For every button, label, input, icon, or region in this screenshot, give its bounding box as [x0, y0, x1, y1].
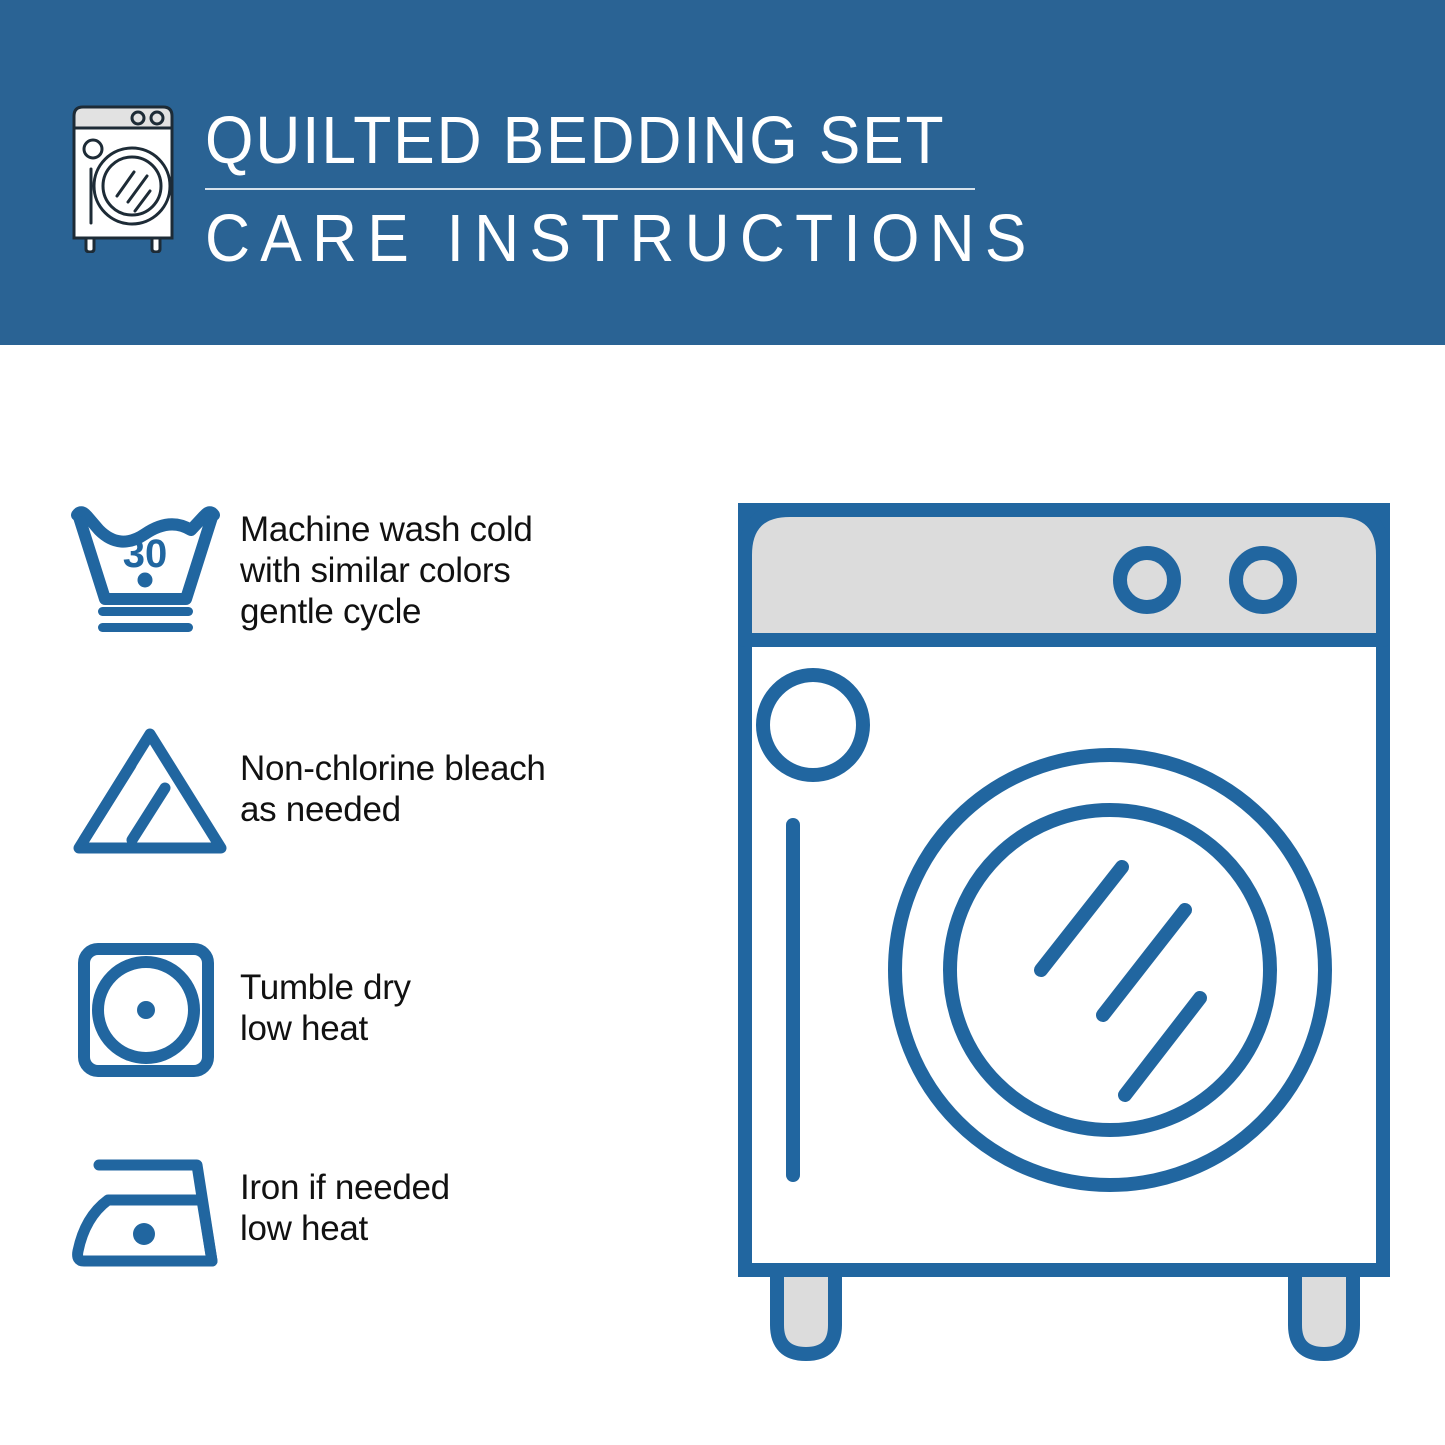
wash-temperature-value: 30: [123, 532, 168, 576]
care-label-iron: Iron if needed low heat: [240, 1145, 700, 1249]
care-label-line: Tumble dry: [240, 967, 700, 1008]
header-text-block: QUILTED BEDDING SET CARE INSTRUCTIONS: [205, 103, 1005, 277]
washing-machine-illustration: [715, 470, 1415, 1390]
care-label-tumble-dry: Tumble dry low heat: [240, 935, 700, 1049]
care-label-line: low heat: [240, 1008, 700, 1049]
care-label-machine-wash: Machine wash cold with similar colors ge…: [240, 495, 700, 632]
iron-low-heat-icon: [60, 1145, 240, 1285]
wash-tub-30-icon: 30: [60, 495, 240, 645]
washing-machine-icon: [62, 98, 184, 253]
care-instruction-list: 30 Machine wash cold with similar colors…: [0, 345, 720, 1445]
detergent-dispenser[interactable]: [763, 675, 863, 775]
page-title: QUILTED BEDDING SET: [205, 103, 949, 179]
care-row-iron: Iron if needed low heat: [60, 1145, 700, 1285]
care-label-line: Iron if needed: [240, 1167, 700, 1208]
non-chlorine-bleach-triangle-icon: [60, 720, 240, 860]
foot-left: [777, 1270, 835, 1354]
care-label-line: with similar colors: [240, 550, 700, 591]
knob-left[interactable]: [1120, 553, 1174, 607]
header-banner: QUILTED BEDDING SET CARE INSTRUCTIONS: [0, 0, 1445, 345]
care-row-tumble-dry: Tumble dry low heat: [60, 935, 700, 1085]
title-divider: [205, 188, 975, 190]
care-row-machine-wash: 30 Machine wash cold with similar colors…: [60, 495, 700, 645]
care-row-bleach: Non-chlorine bleach as needed: [60, 720, 700, 860]
care-label-line: Non-chlorine bleach: [240, 748, 700, 789]
knob-right[interactable]: [1236, 553, 1290, 607]
care-label-line: as needed: [240, 789, 700, 830]
care-instructions-page: QUILTED BEDDING SET CARE INSTRUCTIONS 30: [0, 0, 1445, 1445]
door-inner-ring[interactable]: [950, 810, 1270, 1130]
care-label-bleach: Non-chlorine bleach as needed: [240, 720, 700, 830]
care-label-line: gentle cycle: [240, 591, 700, 632]
foot-right: [1295, 1270, 1353, 1354]
care-label-line: Machine wash cold: [240, 509, 700, 550]
tumble-dry-low-icon: [60, 935, 240, 1085]
page-subtitle: CARE INSTRUCTIONS: [205, 201, 949, 277]
care-label-line: low heat: [240, 1208, 700, 1249]
